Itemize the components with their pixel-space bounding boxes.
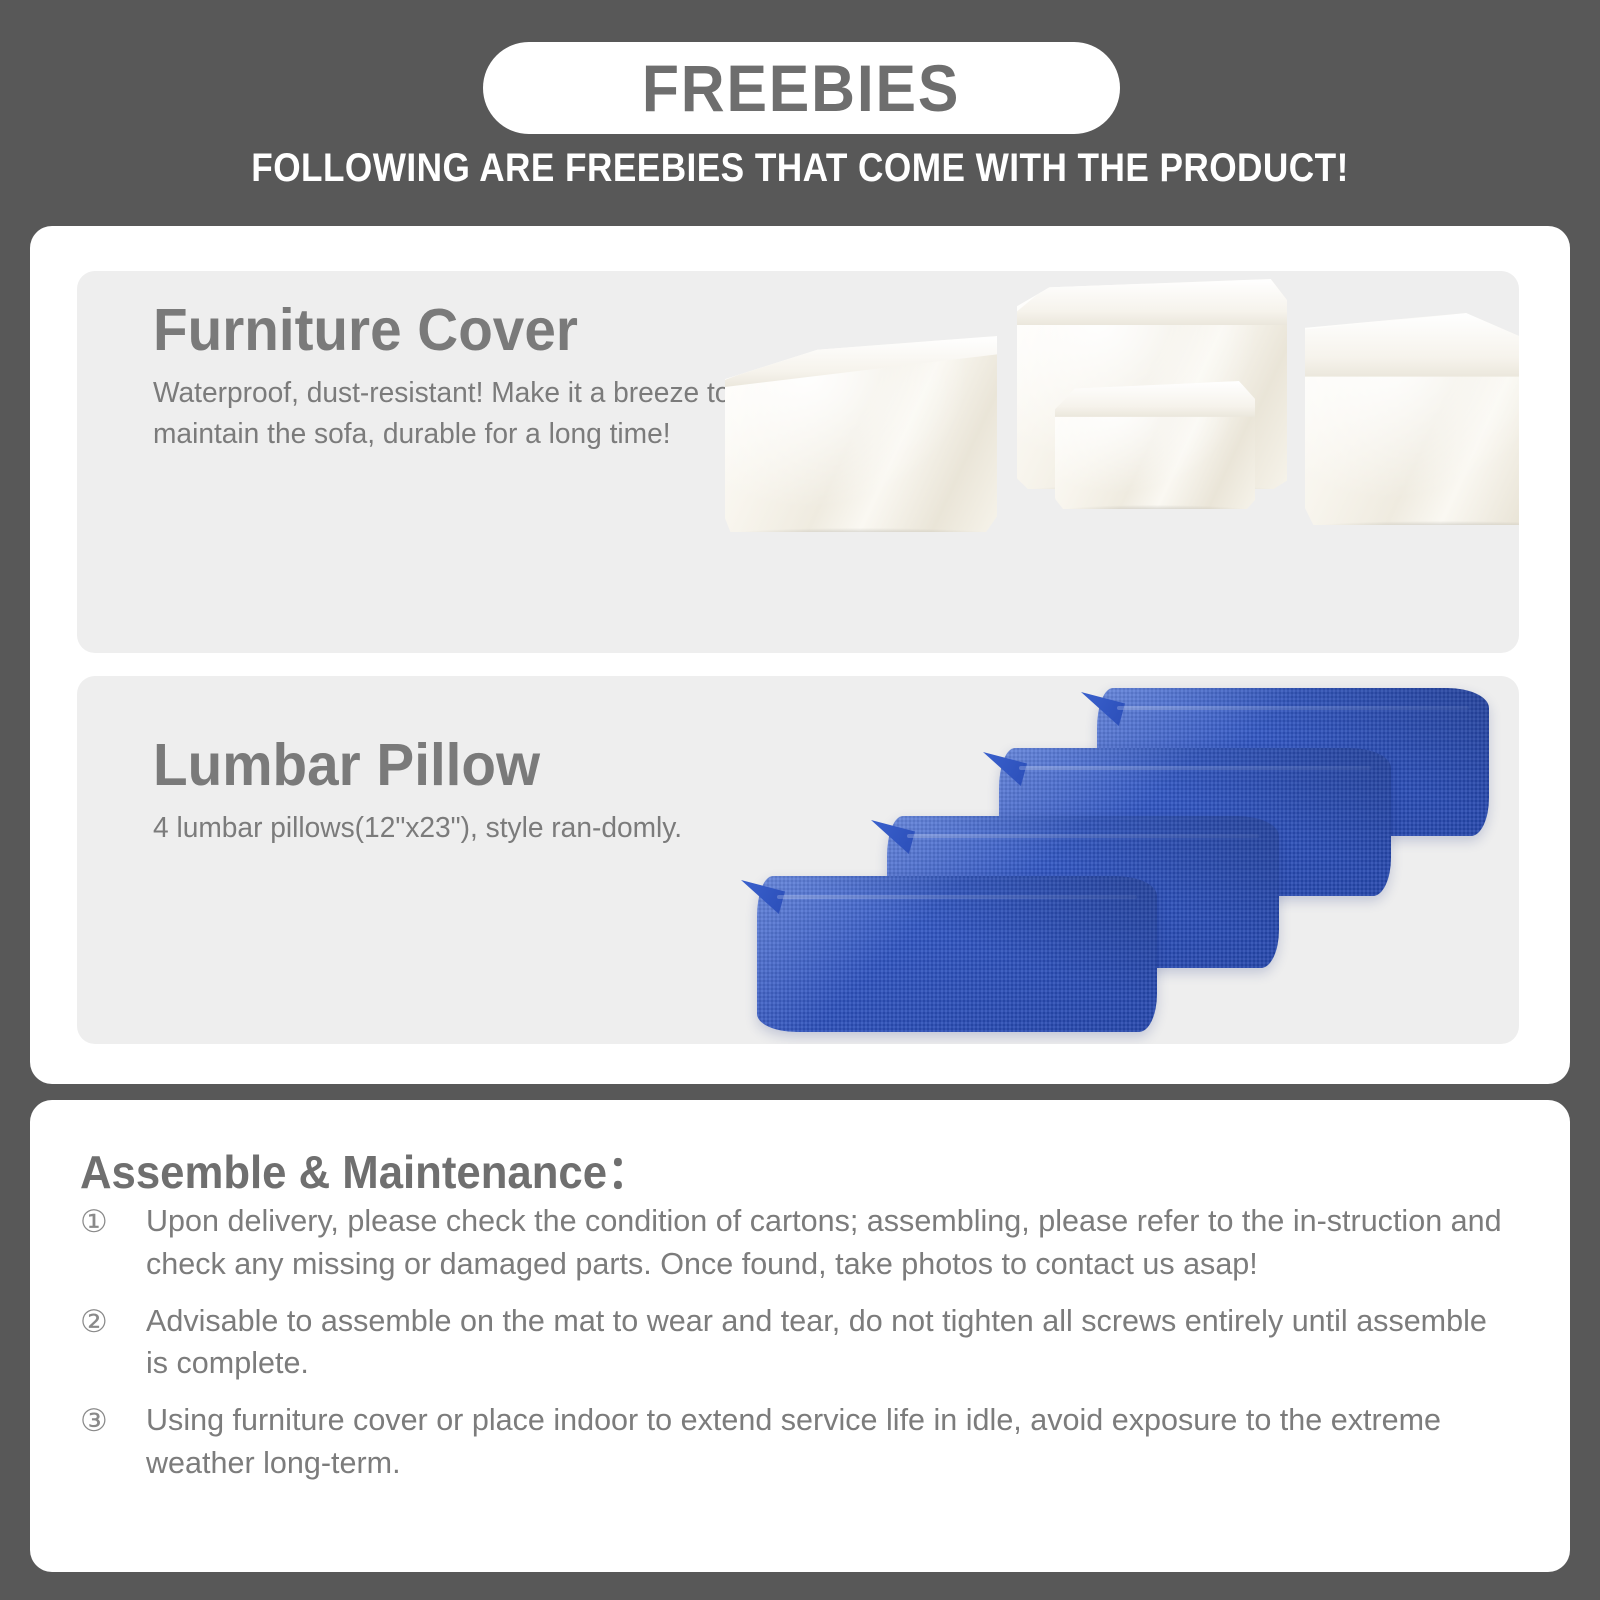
- assemble-note-item: ② Advisable to assemble on the mat to we…: [80, 1300, 1530, 1386]
- lumbar-pillow-panel: Lumbar Pillow 4 lumbar pillows(12"x23"),…: [77, 676, 1519, 1044]
- note-marker-3: ③: [80, 1399, 146, 1443]
- lumbar-pillow-text-block: Lumbar Pillow 4 lumbar pillows(12"x23"),…: [153, 734, 753, 849]
- pillow-seam: [1117, 706, 1470, 710]
- cover-shadow: [1316, 521, 1519, 532]
- header-subtitle: FOLLOWING ARE FREEBIES THAT COME WITH TH…: [96, 146, 1504, 191]
- note-marker-1: ①: [80, 1200, 146, 1244]
- cover-wrinkle-texture: [1055, 381, 1255, 509]
- pillow-front: [757, 876, 1157, 1032]
- pillow-seam: [907, 834, 1260, 838]
- cover-wrinkle-texture: [725, 336, 997, 532]
- note-marker-2: ②: [80, 1300, 146, 1344]
- header: FREEBIES FOLLOWING ARE FREEBIES THAT COM…: [0, 0, 1600, 214]
- page-title: FREEBIES: [642, 55, 960, 121]
- pillow-seam: [777, 895, 1137, 899]
- lumbar-pillow-description: 4 lumbar pillows(12"x23"), style ran-dom…: [153, 808, 735, 849]
- cover-coffee-table: [1055, 381, 1255, 509]
- cover-shadow: [736, 528, 986, 539]
- furniture-cover-text-block: Furniture Cover Waterproof, dust-resista…: [153, 299, 753, 455]
- freebies-card: Furniture Cover Waterproof, dust-resista…: [30, 226, 1570, 1084]
- freebies-title-pill: FREEBIES: [483, 42, 1120, 134]
- cover-wrinkle-texture: [1305, 313, 1519, 525]
- cover-shadow: [1063, 505, 1247, 516]
- note-text-1: Upon delivery, please check the conditio…: [146, 1200, 1509, 1286]
- furniture-cover-image: [717, 271, 1517, 653]
- note-text-3: Using furniture cover or place indoor to…: [146, 1399, 1509, 1485]
- assemble-maintenance-heading: Assemble & Maintenance：: [80, 1136, 651, 1202]
- cover-right-sofa: [1305, 313, 1519, 525]
- pillow-seam: [1019, 766, 1372, 770]
- note-text-2: Advisable to assemble on the mat to wear…: [146, 1300, 1509, 1386]
- lumbar-pillow-image: [737, 676, 1517, 1044]
- assemble-note-item: ③ Using furniture cover or place indoor …: [80, 1399, 1530, 1485]
- infographic-page: FREEBIES FOLLOWING ARE FREEBIES THAT COM…: [0, 0, 1600, 1600]
- cover-left-sofa: [725, 336, 997, 532]
- furniture-cover-panel: Furniture Cover Waterproof, dust-resista…: [77, 271, 1519, 653]
- furniture-cover-title: Furniture Cover: [153, 299, 729, 363]
- lumbar-pillow-title: Lumbar Pillow: [153, 734, 729, 798]
- furniture-cover-description: Waterproof, dust-resistant! Make it a br…: [153, 373, 735, 455]
- assemble-note-item: ① Upon delivery, please check the condit…: [80, 1200, 1530, 1286]
- assemble-notes-list: ① Upon delivery, please check the condit…: [80, 1200, 1530, 1499]
- assemble-maintenance-card: Assemble & Maintenance： ① Upon delivery,…: [30, 1100, 1570, 1572]
